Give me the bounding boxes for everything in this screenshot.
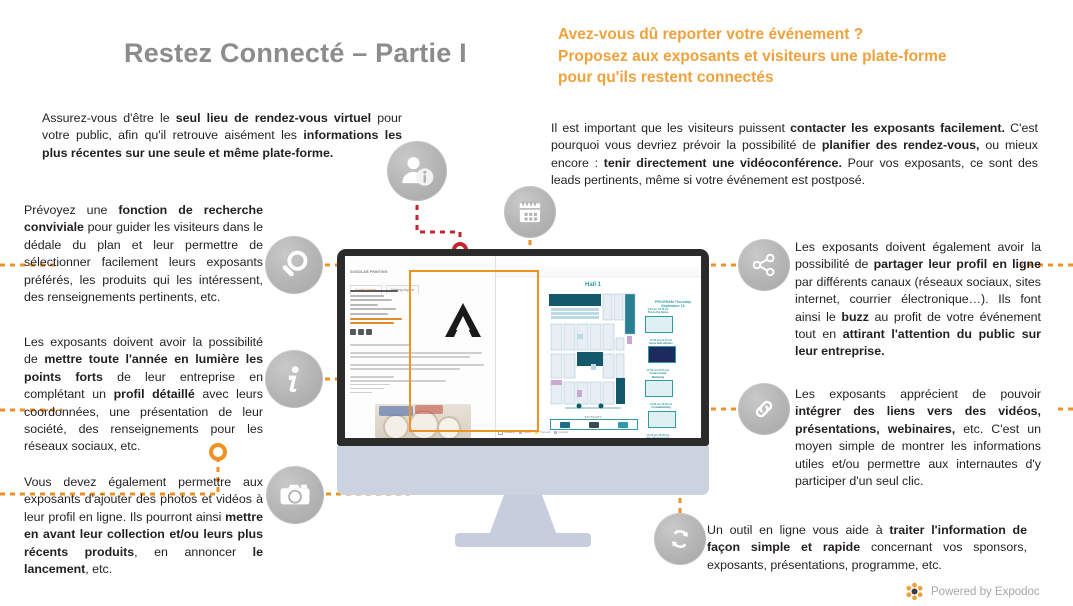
share-icon[interactable] xyxy=(738,239,790,291)
calendar-icon[interactable] xyxy=(504,186,556,238)
screen-highlight-frame xyxy=(409,270,539,432)
social-icons[interactable] xyxy=(350,329,372,335)
floorplan-map[interactable] xyxy=(545,290,641,414)
expodoc-flower-logo xyxy=(905,582,924,601)
paragraph-top-right: Il est important que les visiteurs puiss… xyxy=(551,120,1038,190)
info-icon[interactable] xyxy=(265,350,323,408)
link-icon[interactable] xyxy=(738,383,790,435)
paragraph-left-1: Prévoyez une fonction de recherche convi… xyxy=(24,202,263,306)
orange-heading-line-2: Proposez aux exposants et visiteurs une … xyxy=(558,46,1028,68)
camera-icon[interactable] xyxy=(266,466,324,524)
exhibitor-name: GOODLAB PRINTING xyxy=(350,270,388,274)
footer-text: Powered by Expodoc xyxy=(931,586,1040,598)
orange-heading: Avez-vous dû reporter votre événement ? … xyxy=(558,24,1028,89)
session-thumbnail xyxy=(648,411,676,428)
session-card[interactable]: 9:30 am-10:30 am Trip to the future xyxy=(645,308,671,333)
orange-heading-line-1: Avez-vous dû reporter votre événement ? xyxy=(558,24,1028,46)
hall-label: Hall 1 xyxy=(545,282,641,288)
refresh-icon[interactable] xyxy=(654,513,706,565)
infographic-canvas: GOODLAB PRINTING Contact Details Meeting… xyxy=(0,0,1073,606)
session-card[interactable]: 15:00 pm-15:30 pm Meet Kjell Ampard xyxy=(645,434,671,438)
program-session-list: 9:30 am-10:30 am Trip to the future 11:0… xyxy=(645,308,701,438)
paragraph-right-1: Les exposants doivent également avoir la… xyxy=(795,239,1041,361)
session-card[interactable]: 11:00 am-12:15 pm Controversial Marketin… xyxy=(645,369,671,397)
sponsors-block: SPONSORS xyxy=(550,416,636,430)
session-thumbnail xyxy=(645,380,673,397)
search-icon[interactable] xyxy=(265,236,323,294)
monitor-neck xyxy=(489,495,557,535)
paragraph-left-2: Les exposants doivent avoir la possibili… xyxy=(24,334,263,456)
orange-heading-line-3: pour qu'ils restent connectés xyxy=(558,67,1028,89)
session-thumbnail xyxy=(648,346,676,363)
sponsor-logos xyxy=(550,419,638,430)
monitor-base xyxy=(337,446,709,495)
page-title: Restez Connecté – Partie I xyxy=(124,38,594,69)
session-card[interactable]: 11:00 am-12:15 pm Score with eSports xyxy=(648,339,674,364)
footer: Powered by Expodoc xyxy=(905,582,1040,601)
paragraph-left-3: Vous devez également permettre aux expos… xyxy=(24,474,263,578)
session-card[interactable]: 14:00 pm-15:30 pm Crowdwatching xyxy=(648,403,674,428)
program-title: PROGRAM Thursday September 16 xyxy=(647,300,699,308)
paragraph-right-3: Un outil en ligne vous aide à traiter l'… xyxy=(707,522,1027,574)
monitor-foot xyxy=(455,533,591,547)
paragraph-top-left: Assurez-vous d'être le seul lieu de rend… xyxy=(42,110,402,162)
session-thumbnail xyxy=(645,316,673,333)
paragraph-right-2: Les exposants apprécient de pouvoir inté… xyxy=(795,386,1041,490)
